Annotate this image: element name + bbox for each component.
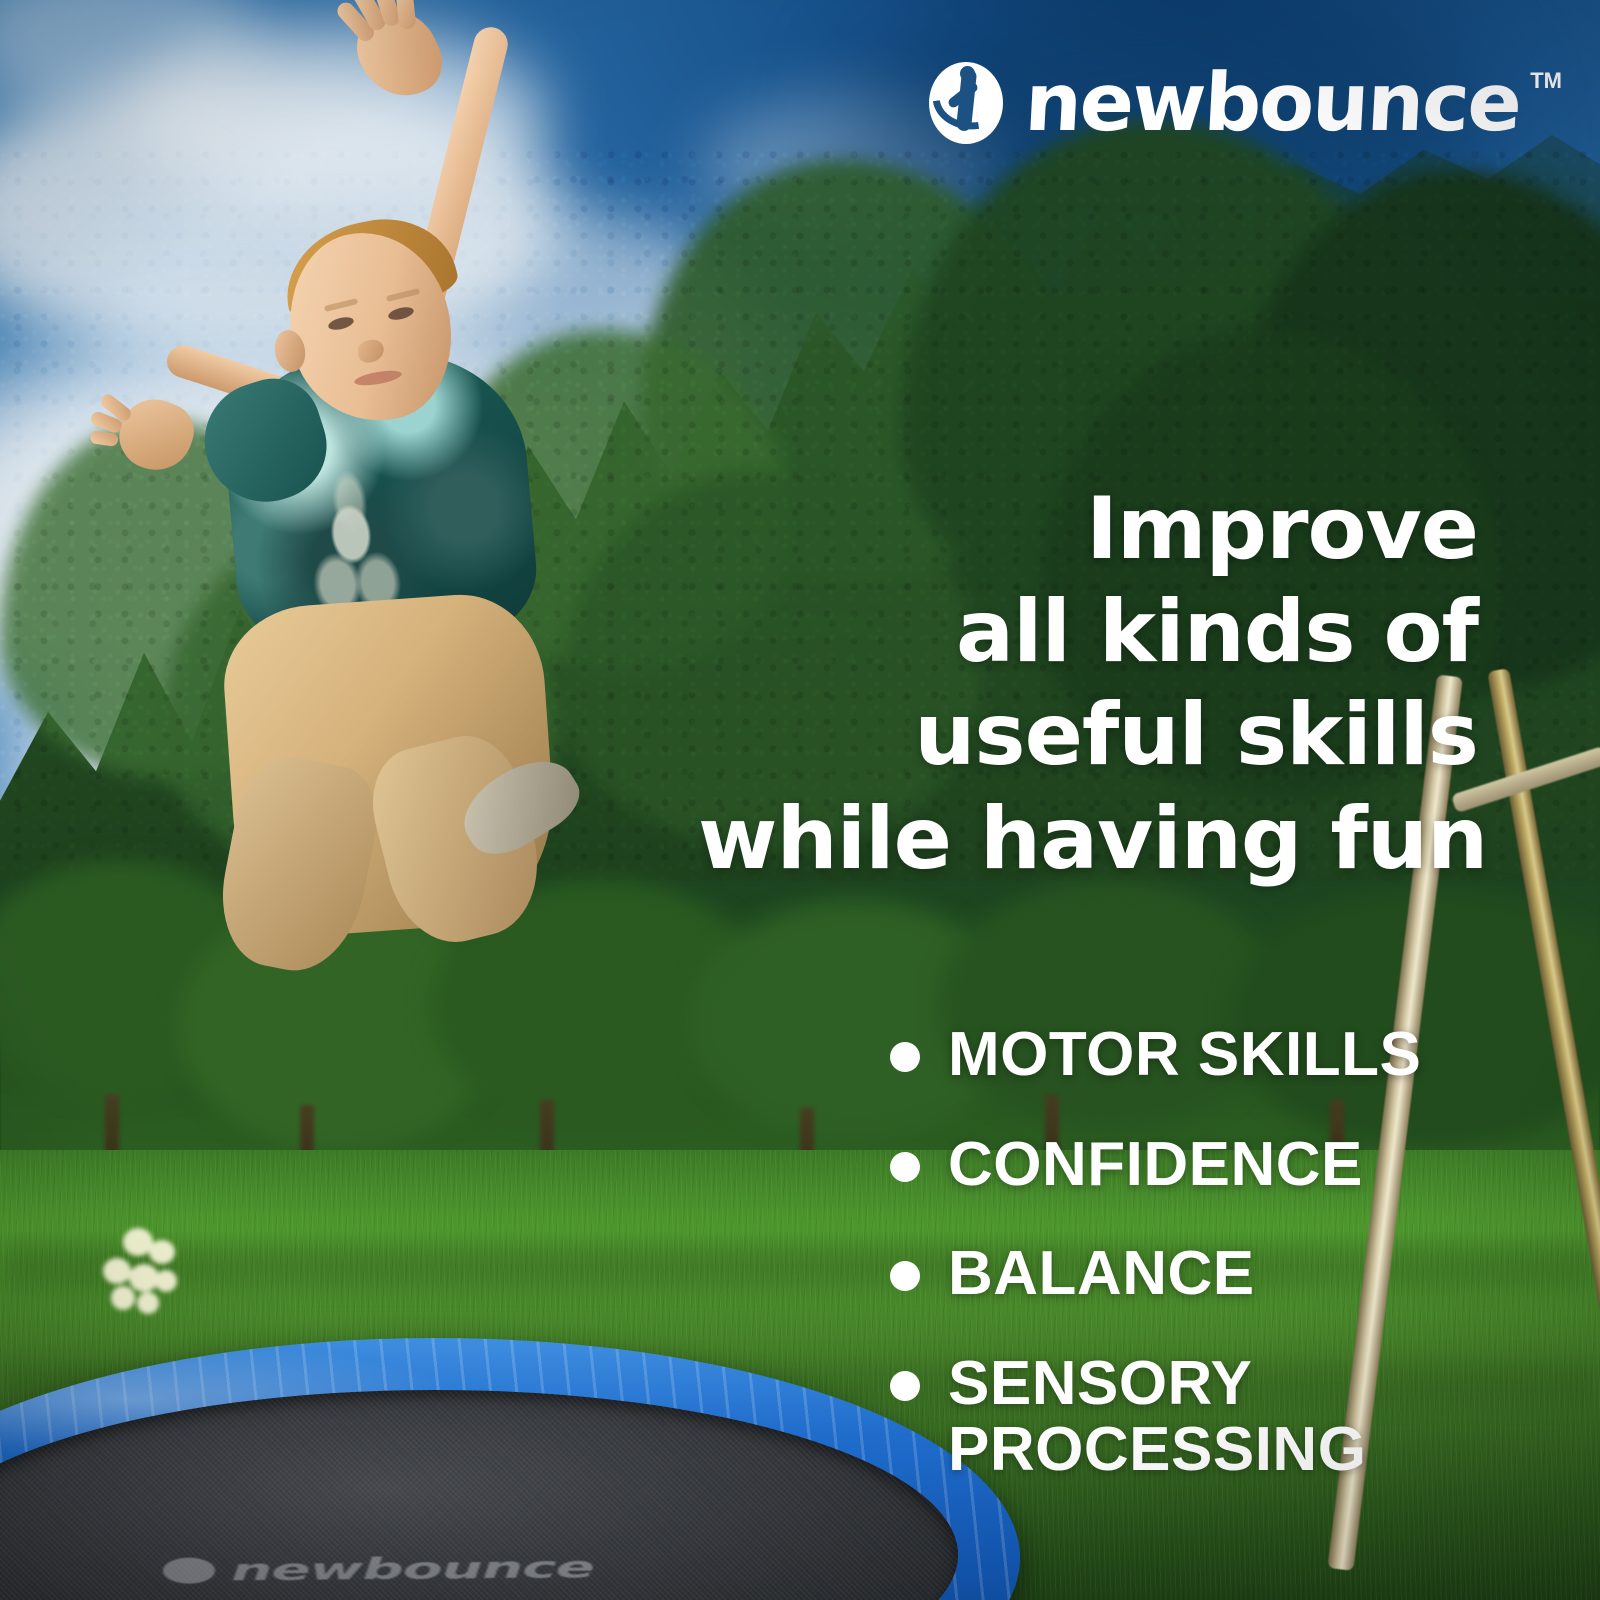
brand-logo[interactable]: newbounce TM: [929, 62, 1562, 144]
jumping-boy: [110, 0, 670, 1010]
promotional-poster: newbounce newbounce TM Improve all kinds…: [0, 0, 1600, 1600]
headline-line-4: while having fun: [698, 788, 1478, 891]
benefits-list: MOTOR SKILLS CONFIDENCE BALANCE SENSORY …: [890, 1022, 1570, 1483]
headline: Improve all kinds of useful skills while…: [698, 478, 1478, 891]
raised-hand: [345, 0, 452, 110]
benefit-label: SENSORY PROCESSING: [948, 1351, 1366, 1482]
outstretched-hand: [110, 390, 202, 480]
headline-line-3: useful skills: [698, 684, 1478, 787]
mat-logo-wordmark: newbounce: [230, 1550, 594, 1587]
bullet-dot-icon: [890, 1042, 920, 1072]
list-item: MOTOR SKILLS: [890, 1022, 1570, 1088]
list-item: BALANCE: [890, 1241, 1570, 1307]
brand-wordmark: newbounce: [1023, 67, 1522, 139]
bullet-dot-icon: [890, 1261, 920, 1291]
bullet-dot-icon: [890, 1152, 920, 1182]
list-item: CONFIDENCE: [890, 1132, 1570, 1198]
benefit-label: BALANCE: [948, 1241, 1255, 1307]
headline-line-2: all kinds of: [698, 581, 1478, 684]
mat-logo-mark-icon: [163, 1558, 216, 1584]
benefit-label: MOTOR SKILLS: [948, 1022, 1421, 1088]
jumping-figure-oval-icon: [929, 62, 1003, 144]
mat-brand-logo: newbounce: [162, 1550, 594, 1588]
flowering-bush: [95, 1228, 205, 1323]
trademark-symbol: TM: [1530, 68, 1562, 94]
benefit-label: CONFIDENCE: [948, 1132, 1363, 1198]
headline-line-1: Improve: [698, 478, 1478, 581]
list-item: SENSORY PROCESSING: [890, 1351, 1570, 1482]
bullet-dot-icon: [890, 1371, 920, 1401]
trampoline: newbounce: [0, 1338, 1020, 1600]
